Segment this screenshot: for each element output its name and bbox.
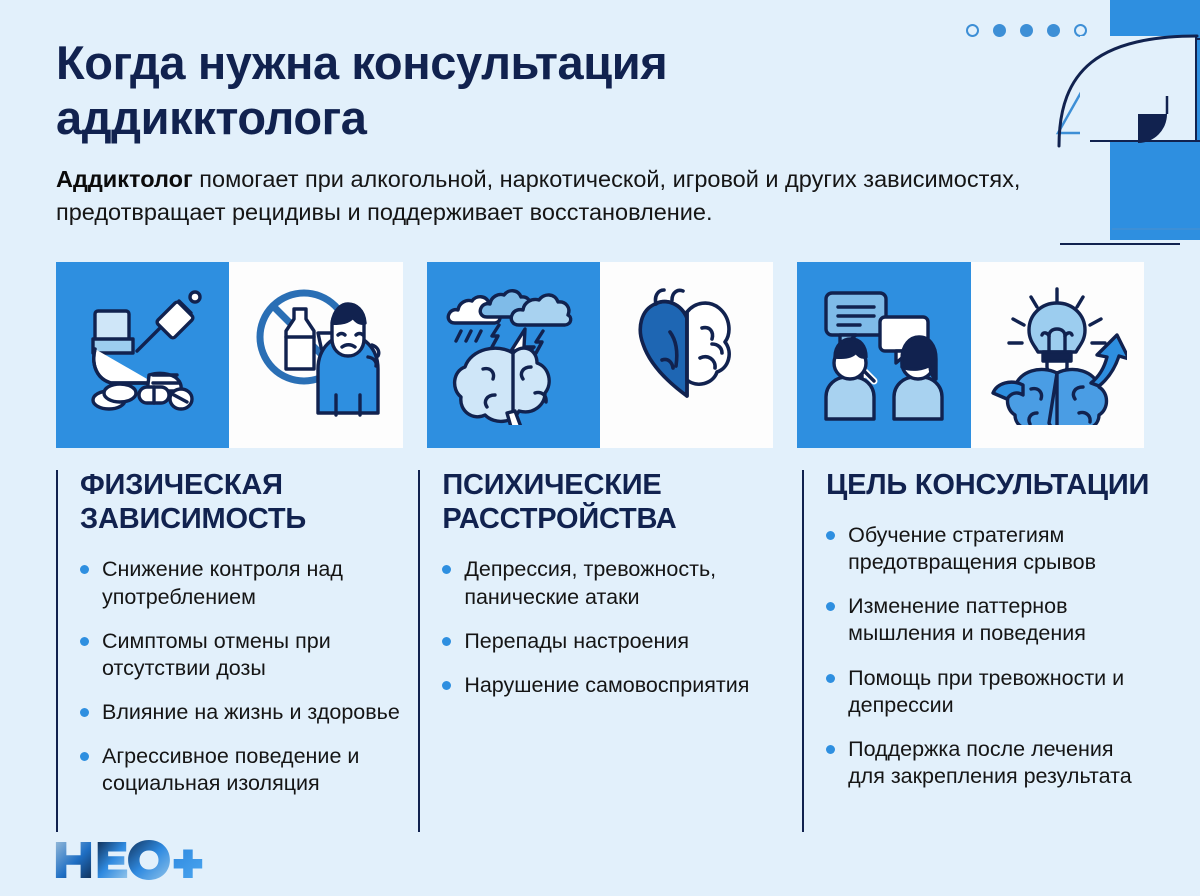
list-item: Влияние на жизнь и здоровье bbox=[80, 699, 418, 726]
column-heading: ПСИХИЧЕСКИЕ РАССТРОЙСТВА bbox=[442, 468, 802, 536]
bullet-dot-icon bbox=[80, 752, 89, 761]
logo-glyphs bbox=[56, 840, 202, 880]
bullet-list: Обучение стратегиям предотвращения срыво… bbox=[826, 522, 1156, 790]
bullet-dot-icon bbox=[826, 531, 835, 540]
arm-syringe-pills-icon bbox=[75, 287, 211, 423]
people-speech-bubbles-arrow-icon bbox=[814, 285, 954, 425]
list-item-text: Обучение стратегиям предотвращения срыво… bbox=[848, 523, 1096, 574]
decor-line-light bbox=[1112, 228, 1200, 230]
bullet-dot-icon bbox=[442, 565, 451, 574]
icon-cell-people-dialog bbox=[797, 262, 970, 448]
list-item: Изменение паттернов мышления и поведения bbox=[826, 593, 1156, 647]
icon-group-goal bbox=[797, 262, 1144, 448]
lightbulb-brain-arrows-icon bbox=[987, 285, 1127, 425]
bullet-list: Депрессия, тревожность, панические атаки… bbox=[442, 556, 802, 698]
list-item-text: Изменение паттернов мышления и поведения bbox=[848, 594, 1086, 645]
bullet-dot-icon bbox=[80, 708, 89, 717]
icon-row bbox=[56, 262, 1144, 448]
decor-pendulum-icon bbox=[1136, 96, 1198, 156]
decor-dot-3 bbox=[1020, 24, 1033, 37]
subtitle-rest: помогает при алкогольной, наркотической,… bbox=[56, 166, 1020, 225]
column-consultation-goal: ЦЕЛЬ КОНСУЛЬТАЦИИ Обучение стратегиям пр… bbox=[802, 468, 1156, 868]
bullet-dot-icon bbox=[80, 637, 89, 646]
decor-dot-2 bbox=[993, 24, 1006, 37]
bullet-dot-icon bbox=[442, 681, 451, 690]
page-subtitle: Аддиктолог помогает при алкогольной, нар… bbox=[56, 163, 1116, 230]
bullet-dot-icon bbox=[826, 745, 835, 754]
icon-cell-no-alcohol bbox=[229, 262, 402, 448]
list-item-text: Снижение контроля над употреблением bbox=[102, 557, 343, 608]
brand-logo: НЕО+ bbox=[54, 838, 206, 882]
list-item-text: Влияние на жизнь и здоровье bbox=[102, 700, 400, 724]
decor-line-navy bbox=[1060, 243, 1180, 245]
list-item-text: Поддержка после лечения для закрепления … bbox=[848, 737, 1132, 788]
list-item-text: Депрессия, тревожность, панические атаки bbox=[464, 557, 716, 608]
list-item: Поддержка после лечения для закрепления … bbox=[826, 736, 1156, 790]
columns-container: ФИЗИЧЕСКАЯ ЗАВИСИМОСТЬ Снижение контроля… bbox=[56, 468, 1156, 868]
bullet-dot-icon bbox=[826, 674, 835, 683]
list-item: Снижение контроля над употреблением bbox=[80, 556, 418, 610]
list-item: Агрессивное поведение и социальная изоля… bbox=[80, 743, 418, 797]
icon-cell-storm-brain bbox=[427, 262, 600, 448]
list-item-text: Агрессивное поведение и социальная изоля… bbox=[102, 744, 359, 795]
column-mental-disorders: ПСИХИЧЕСКИЕ РАССТРОЙСТВА Депрессия, трев… bbox=[418, 468, 802, 868]
icon-cell-lightbulb-brain bbox=[971, 262, 1144, 448]
list-item: Помощь при тревожности и депрессии bbox=[826, 665, 1156, 719]
list-item: Перепады настроения bbox=[442, 628, 802, 655]
list-item: Обучение стратегиям предотвращения срыво… bbox=[826, 522, 1156, 576]
bullet-list: Снижение контроля над употреблением Симп… bbox=[80, 556, 418, 797]
column-heading: ФИЗИЧЕСКАЯ ЗАВИСИМОСТЬ bbox=[80, 468, 418, 536]
subtitle-bold-term: Аддиктолог bbox=[56, 166, 193, 192]
list-item-text: Помощь при тревожности и депрессии bbox=[848, 666, 1124, 717]
no-alcohol-sad-person-icon bbox=[246, 285, 386, 425]
column-heading: ЦЕЛЬ КОНСУЛЬТАЦИИ bbox=[826, 468, 1156, 502]
icon-cell-arm-syringe bbox=[56, 262, 229, 448]
icon-group-physical bbox=[56, 262, 403, 448]
list-item-text: Нарушение самовосприятия bbox=[464, 673, 749, 697]
infographic-page: Когда нужна консультация аддикктолога Ад… bbox=[0, 0, 1200, 896]
list-item: Симптомы отмены при отсутствии дозы bbox=[80, 628, 418, 682]
bullet-dot-icon bbox=[442, 637, 451, 646]
bullet-dot-icon bbox=[80, 565, 89, 574]
decor-dot-1 bbox=[966, 24, 979, 37]
list-item-text: Перепады настроения bbox=[464, 629, 689, 653]
bullet-dot-icon bbox=[826, 602, 835, 611]
column-physical-dependence: ФИЗИЧЕСКАЯ ЗАВИСИМОСТЬ Снижение контроля… bbox=[56, 468, 418, 868]
list-item: Депрессия, тревожность, панические атаки bbox=[442, 556, 802, 610]
list-item-text: Симптомы отмены при отсутствии дозы bbox=[102, 629, 331, 680]
heart-brain-split-icon bbox=[620, 288, 754, 422]
page-title: Когда нужна консультация аддикктолога bbox=[56, 36, 876, 145]
icon-group-mental bbox=[427, 262, 774, 448]
icon-cell-heart-brain bbox=[600, 262, 773, 448]
storm-cloud-brain-icon bbox=[443, 285, 583, 425]
list-item: Нарушение самовосприятия bbox=[442, 672, 802, 699]
